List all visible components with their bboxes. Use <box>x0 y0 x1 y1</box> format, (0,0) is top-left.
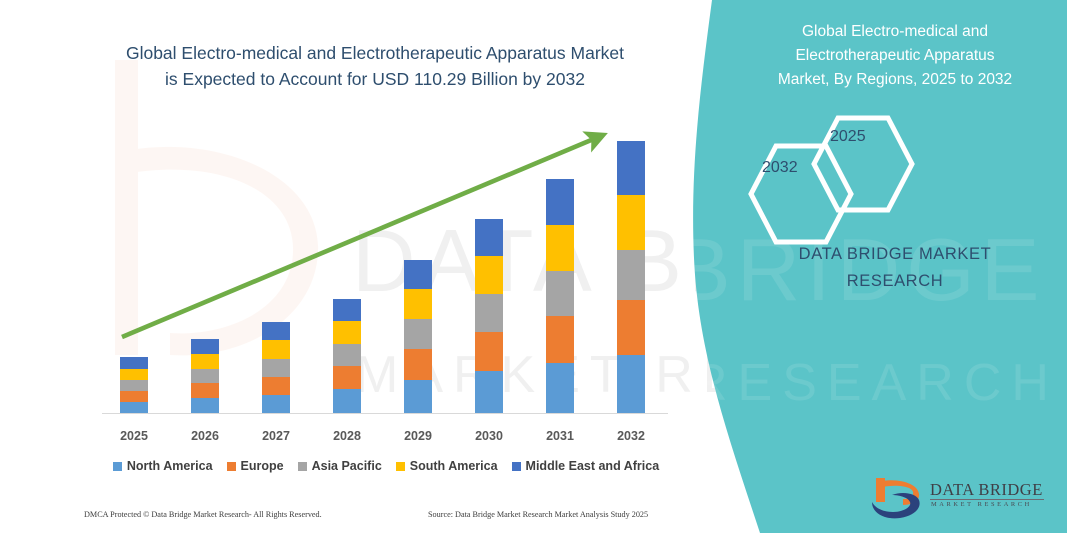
brand-panel-title-line-2: Electrotherapeutic Apparatus <box>735 44 1055 68</box>
brand-panel-title-line-1: Global Electro-medical and <box>735 20 1055 44</box>
brand-name-text: DATA BRIDGE MARKET RESEARCH <box>735 241 1055 295</box>
brand-name-line-2: RESEARCH <box>735 268 1055 295</box>
databridge-logo: DATA BRIDGE MARKET RESEARCH <box>870 476 1045 522</box>
databridge-logo-mark-icon <box>870 476 926 520</box>
brand-name-line-1: DATA BRIDGE MARKET <box>735 241 1055 268</box>
hexagon-2032-icon <box>745 140 857 248</box>
brand-panel-title: Global Electro-medical and Electrotherap… <box>735 20 1055 92</box>
brand-panel: BRIDGE RESEARCH Global Electro-medical a… <box>0 0 1067 533</box>
infographic-page: DATA BRIDGE MARKET RESEARCH Global Elect… <box>0 0 1067 533</box>
brand-panel-title-line-3: Market, By Regions, 2025 to 2032 <box>735 68 1055 92</box>
brand-panel-content: Global Electro-medical and Electrotherap… <box>730 0 1067 533</box>
logo-subtitle: MARKET RESEARCH <box>931 501 1032 508</box>
hexagon-2032-label: 2032 <box>762 159 798 177</box>
logo-name: DATA BRIDGE <box>930 480 1043 500</box>
